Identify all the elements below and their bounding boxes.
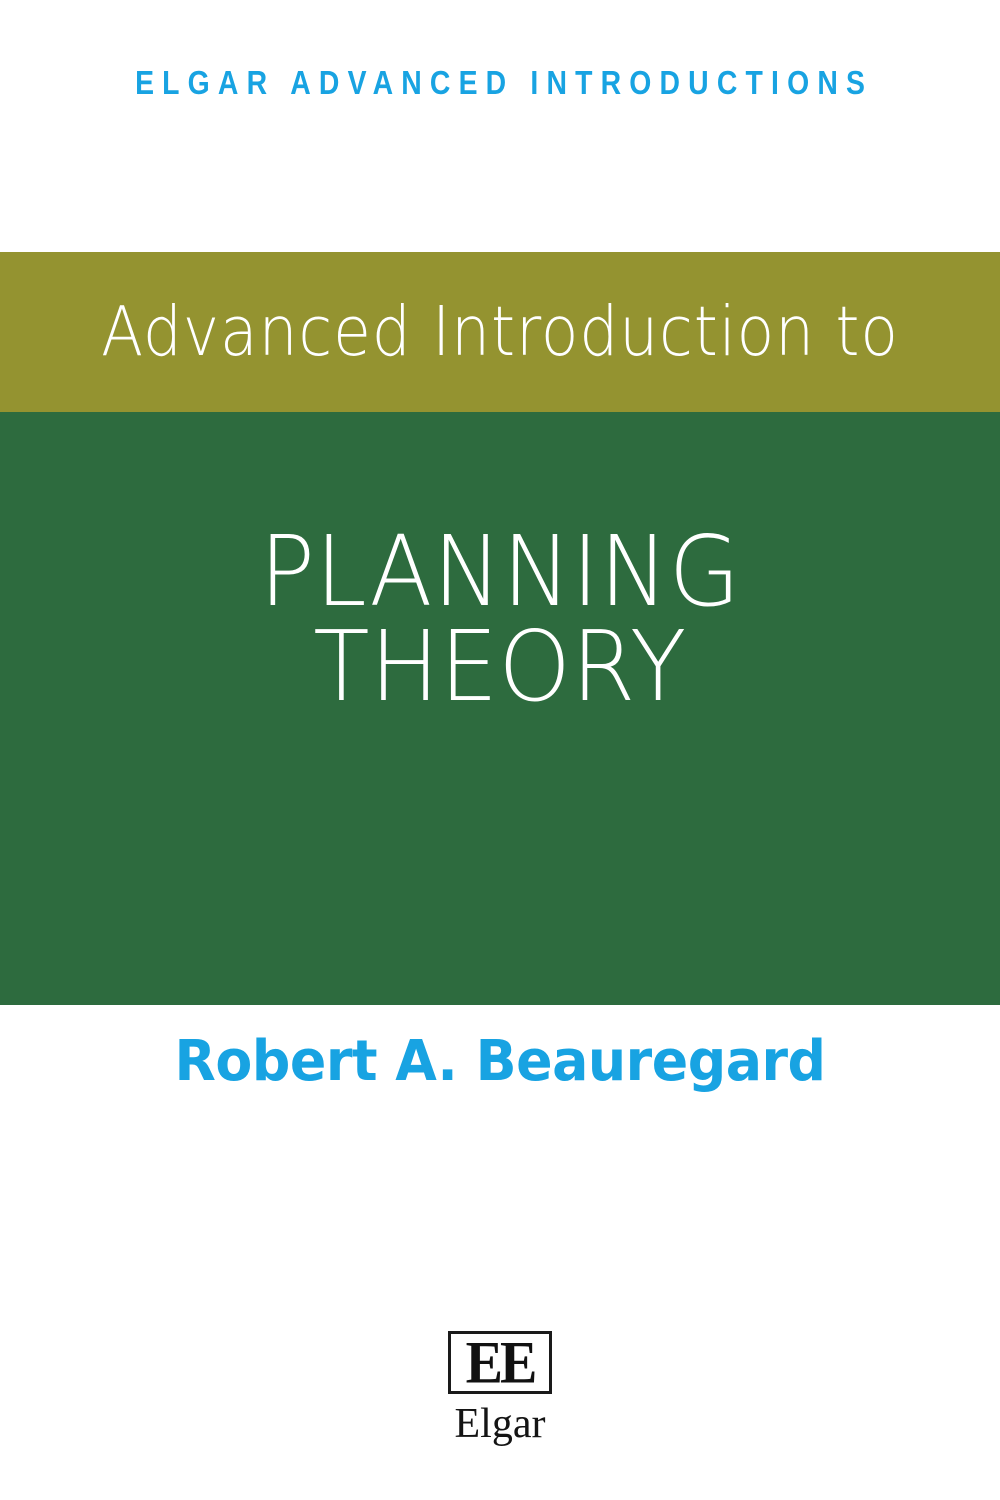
author-name: Robert A. Beauregard: [20, 1027, 980, 1097]
title-line-1: PLANNING: [25, 524, 975, 619]
title-block: PLANNING THEORY: [0, 412, 1000, 1005]
cover-subtitle: Advanced Introduction to: [35, 249, 965, 415]
publisher-name: Elgar: [420, 1402, 580, 1446]
series-label: ELGAR ADVANCED INTRODUCTIONS: [70, 62, 930, 104]
subtitle-band: Advanced Introduction to: [0, 252, 1000, 412]
publisher-logo: EE Elgar: [420, 1331, 580, 1446]
title-line-2: THEORY: [25, 619, 975, 714]
book-cover: ELGAR ADVANCED INTRODUCTIONS Advanced In…: [0, 0, 1000, 1500]
page-title: PLANNING THEORY: [0, 524, 1000, 714]
ee-monogram-text: EE: [466, 1336, 535, 1390]
ee-monogram-box: EE: [448, 1331, 552, 1394]
